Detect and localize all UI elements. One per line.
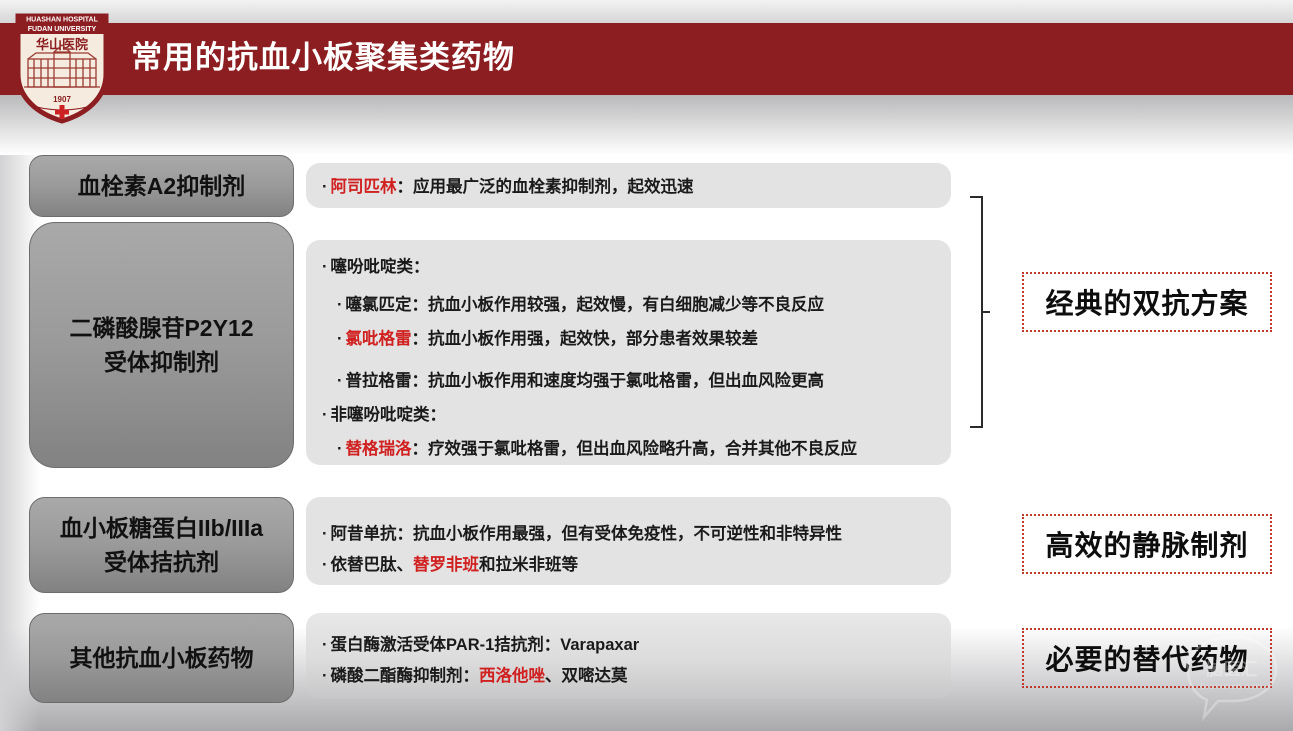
panel-line-gp2b3a-0: ·阿昔单抗：抗血小板作用最强，但有受体免疫性，不可逆性和非特异性	[322, 523, 842, 545]
line-text-pre: 普拉格雷：抗血小板作用和速度均强于氯吡格雷，但出血风险更高	[346, 372, 825, 390]
category-box-other[interactable]: 其他抗血小板药物	[29, 613, 294, 703]
callout-label-iv-agent: 高效的静脉制剂	[1045, 524, 1248, 564]
line-text-pre: 磷酸二酯酶抑制剂：	[331, 667, 480, 685]
line-text-post: ：抗血小板作用强，起效快，部分患者效果较差	[412, 330, 759, 348]
bullet-icon: ·	[322, 178, 328, 196]
bullet-icon: ·	[337, 296, 343, 314]
category-label-p2y12-line2: 受体抑制剂	[104, 349, 219, 375]
category-label-gp2b3a-line1: 血小板糖蛋白IIb/IIIa	[60, 515, 263, 541]
panel-line-p2y12-0: ·噻吩吡啶类：	[322, 256, 430, 278]
slide-root: HUASHAN HOSPITAL FUDAN UNIVERSITY 华山医院	[0, 0, 1293, 731]
bullet-icon: ·	[322, 258, 328, 276]
panel-line-p2y12-2: ·氯吡格雷：抗血小板作用强，起效快，部分患者效果较差	[337, 328, 758, 350]
drug-name-highlight: 替罗非班	[413, 556, 479, 574]
top-gradient-band	[0, 0, 1293, 23]
hospital-crest-logo: HUASHAN HOSPITAL FUDAN UNIVERSITY 华山医院	[14, 12, 110, 124]
bullet-icon: ·	[322, 406, 328, 424]
panel-line-p2y12-5: ·替格瑞洛：疗效强于氯吡格雷，但出血风险略升高，合并其他不良反应	[337, 438, 857, 460]
category-label-p2y12-line1: 二磷酸腺苷P2Y12	[69, 315, 253, 341]
bullet-icon: ·	[322, 636, 328, 654]
bullet-icon: ·	[322, 525, 328, 543]
bullet-icon: ·	[337, 330, 343, 348]
bullet-icon: ·	[337, 372, 343, 390]
panel-line-p2y12-1: ·噻氯匹定：抗血小板作用较强，起效慢，有白细胞减少等不良反应	[337, 294, 824, 316]
panel-line-other-1: ·磷酸二酯酶抑制剂：西洛他唑、双嘧达莫	[322, 665, 628, 687]
line-text-post: ：应用最广泛的血栓素抑制剂，起效迅速	[397, 178, 694, 196]
page-title: 常用的抗血小板聚集类药物	[131, 36, 515, 80]
panel-line-txa2-0: ·阿司匹林：应用最广泛的血栓素抑制剂，起效迅速	[322, 176, 694, 198]
line-text-pre: 噻氯匹定：抗血小板作用较强，起效慢，有白细胞减少等不良反应	[346, 296, 825, 314]
category-label-gp2b3a: 血小板糖蛋白IIb/IIIa 受体拮抗剂	[60, 511, 263, 579]
panel-line-p2y12-4: ·非噻吩吡啶类：	[322, 404, 446, 426]
line-text-pre: 非噻吩吡啶类：	[331, 406, 447, 424]
panel-line-p2y12-3: ·普拉格雷：抗血小板作用和速度均强于氯吡格雷，但出血风险更高	[337, 370, 824, 392]
bullet-icon: ·	[322, 556, 328, 574]
logo-english-line2: FUDAN UNIVERSITY	[28, 26, 97, 33]
drug-name-highlight: 替格瑞洛	[346, 440, 412, 458]
line-text-pre: 噻吩吡啶类：	[331, 258, 430, 276]
line-text-pre: 依替巴肽、	[331, 556, 414, 574]
grouping-bracket	[968, 196, 990, 428]
logo-year: 1907	[53, 95, 71, 104]
panel-line-other-0: ·蛋白酶激活受体PAR-1拮抗剂：Varapaxar	[322, 634, 639, 656]
below-header-gradient	[0, 95, 1293, 155]
line-text-post: ：疗效强于氯吡格雷，但出血风险略升高，合并其他不良反应	[412, 440, 858, 458]
drug-name-highlight: 氯吡格雷	[346, 330, 412, 348]
line-text-post: 和拉米非班等	[479, 556, 578, 574]
category-label-gp2b3a-line2: 受体拮抗剂	[104, 549, 219, 575]
line-text-post: 、双嘧达莫	[545, 667, 628, 685]
callout-label-alternative: 必要的替代药物	[1045, 638, 1248, 678]
line-text-pre: 阿昔单抗：抗血小板作用最强，但有受体免疫性，不可逆性和非特异性	[331, 525, 843, 543]
drug-name-highlight: 西洛他唑	[479, 667, 545, 685]
logo-english-line1: HUASHAN HOSPITAL	[26, 17, 99, 24]
callout-alternative[interactable]: 必要的替代药物	[1022, 628, 1272, 688]
category-box-gp2b3a[interactable]: 血小板糖蛋白IIb/IIIa 受体拮抗剂	[29, 497, 294, 593]
category-label-txa2: 血栓素A2抑制剂	[78, 169, 245, 203]
callout-classic-dual[interactable]: 经典的双抗方案	[1022, 272, 1272, 332]
category-label-other: 其他抗血小板药物	[70, 641, 254, 675]
category-box-p2y12[interactable]: 二磷酸腺苷P2Y12 受体抑制剂	[29, 222, 294, 468]
panel-line-gp2b3a-1: ·依替巴肽、替罗非班和拉米非班等	[322, 554, 578, 576]
bullet-icon: ·	[337, 440, 343, 458]
line-text-pre: 蛋白酶激活受体PAR-1拮抗剂：Varapaxar	[331, 636, 640, 654]
callout-label-classic-dual: 经典的双抗方案	[1045, 282, 1248, 322]
category-box-txa2[interactable]: 血栓素A2抑制剂	[29, 155, 294, 217]
callout-iv-agent[interactable]: 高效的静脉制剂	[1022, 514, 1272, 574]
drug-name-highlight: 阿司匹林	[331, 178, 397, 196]
category-label-p2y12: 二磷酸腺苷P2Y12 受体抑制剂	[69, 311, 253, 379]
bullet-icon: ·	[322, 667, 328, 685]
